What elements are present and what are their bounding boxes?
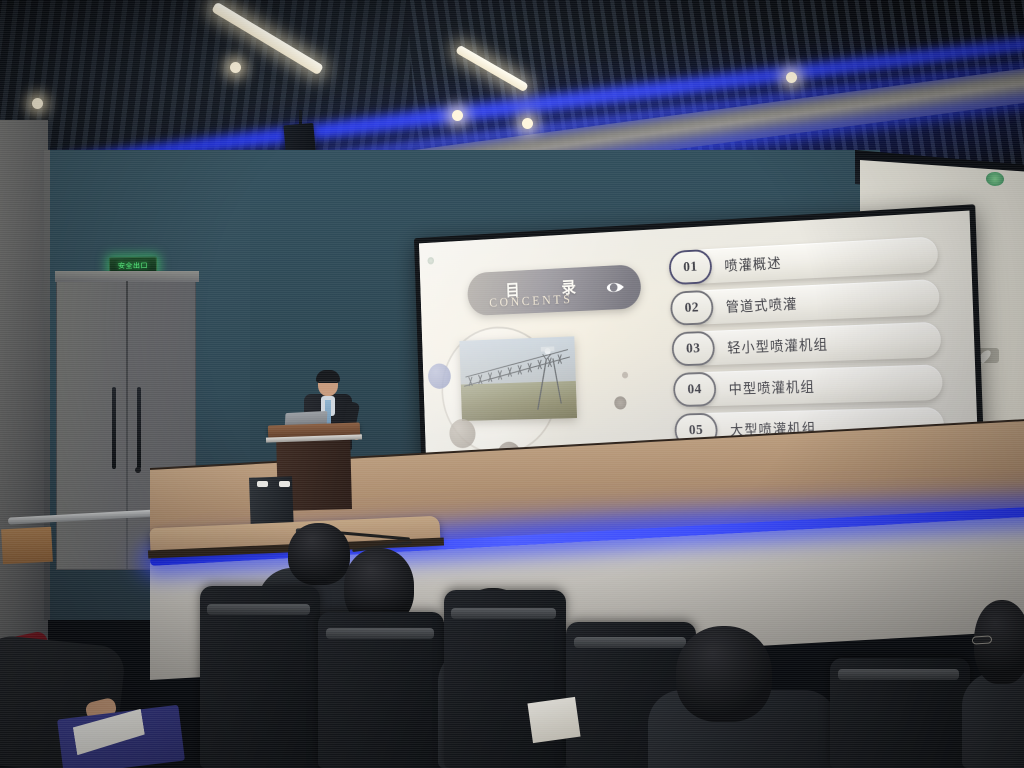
seat-strap <box>838 669 958 680</box>
irrigation-machine-icon <box>459 336 577 421</box>
agenda-item[interactable]: 01 喷灌概述 <box>669 236 939 285</box>
decor-circle-right-small <box>622 372 628 379</box>
door-split-line <box>126 281 128 569</box>
seat[interactable] <box>830 658 970 768</box>
screen-corner-marker <box>427 257 434 265</box>
audience-head <box>288 523 350 585</box>
lecture-hall-scene: 安全出口 目 录 CONCENTS <box>0 0 1024 768</box>
audience-body <box>962 672 1024 768</box>
slide-title-en: CONCENTS <box>489 293 573 312</box>
spotlight-5 <box>786 72 797 83</box>
floor-item-2 <box>279 481 290 487</box>
agenda-item[interactable]: 02 管道式喷灌 <box>670 279 940 326</box>
floor-item-1 <box>257 481 268 487</box>
agenda-label: 管道式喷灌 <box>725 286 798 324</box>
door-handle-right[interactable] <box>137 387 141 469</box>
door-handle-left[interactable] <box>112 387 116 469</box>
agenda-item[interactable]: 04 中型喷灌机组 <box>673 364 943 407</box>
agenda-number: 02 <box>670 290 714 326</box>
agenda-label: 中型喷灌机组 <box>728 368 815 405</box>
leaf-eye-icon <box>604 275 626 299</box>
decor-circle-right <box>614 396 627 409</box>
agenda-label: 轻小型喷灌机组 <box>727 326 829 364</box>
paper-sheet <box>527 697 580 743</box>
audience-head <box>676 626 772 722</box>
agenda-number: 04 <box>673 372 717 407</box>
presenter-glasses-icon <box>319 381 337 385</box>
glasses-icon <box>972 635 993 644</box>
seat-strap <box>207 604 310 615</box>
spotlight-3 <box>452 110 463 121</box>
slide-thumbnail-image <box>459 336 577 421</box>
seat[interactable] <box>444 590 566 768</box>
seat-strap <box>574 637 686 648</box>
agenda-list: 01 喷灌概述 02 管道式喷灌 03 轻小型喷灌机组 04 中型喷灌机组 <box>669 236 945 454</box>
agenda-item[interactable]: 03 轻小型喷灌机组 <box>671 322 941 367</box>
seat[interactable] <box>318 612 444 768</box>
agenda-number: 01 <box>669 249 713 285</box>
wooden-box <box>1 527 53 565</box>
agenda-number: 03 <box>671 331 715 367</box>
seat-strap <box>326 628 434 639</box>
door-lock-icon <box>135 467 141 473</box>
agenda-label: 喷灌概述 <box>724 245 782 283</box>
seat-strap <box>451 608 556 619</box>
spotlight-4 <box>522 118 533 129</box>
seat[interactable] <box>200 586 320 768</box>
floor-accessories <box>257 481 303 488</box>
exit-sign-label: 安全出口 <box>118 260 148 271</box>
spotlight-2 <box>230 62 241 73</box>
spotlight-1 <box>32 98 43 109</box>
slide-title-pill: 目 录 CONCENTS <box>467 264 642 316</box>
